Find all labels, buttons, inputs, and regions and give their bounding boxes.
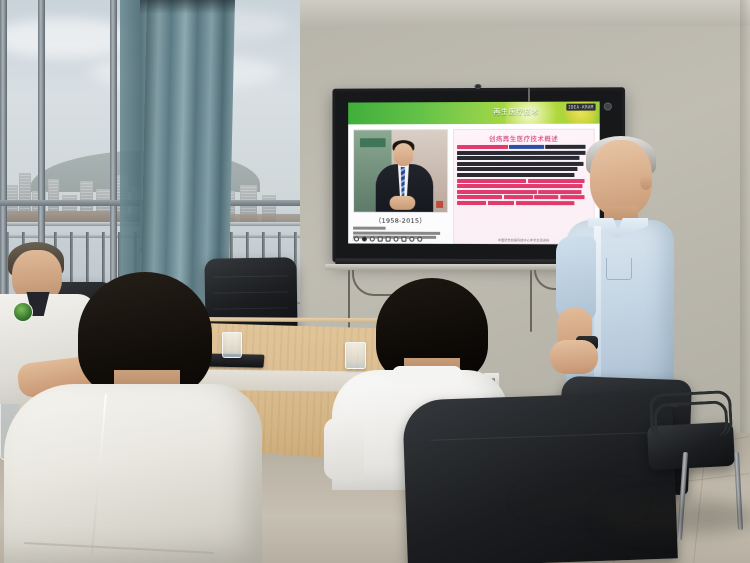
presenter-shadow <box>520 488 640 514</box>
visitor-chair-foreground[interactable] <box>402 391 678 563</box>
door-edge <box>740 0 750 470</box>
display-cable <box>530 270 532 332</box>
pen-icon[interactable] <box>370 237 375 242</box>
ceiling <box>280 0 750 26</box>
close-icon[interactable] <box>394 237 399 242</box>
display-cable <box>528 88 530 102</box>
slide-header-title: 再生医疗技术 <box>493 107 539 117</box>
pointer-icon[interactable] <box>354 237 359 242</box>
record-icon[interactable] <box>362 237 367 242</box>
shirt-pocket <box>606 258 632 280</box>
ear <box>640 174 652 190</box>
sleeve <box>324 418 364 480</box>
curtain-rod-shadow <box>140 0 235 14</box>
photo-stamp-icon <box>436 201 443 208</box>
slide-toolbar[interactable] <box>354 237 422 242</box>
chair-backrest-frame <box>653 400 729 440</box>
slide-photo-column: （1958-2015） <box>353 129 448 244</box>
display-brand-logo: IDEA-KRAM <box>566 104 596 111</box>
portrait-caption: （1958-2015） <box>353 215 448 225</box>
more-icon[interactable] <box>417 237 422 242</box>
hands <box>550 340 598 374</box>
camera-icon <box>474 84 481 89</box>
shirt <box>4 384 262 563</box>
attendee-front-left <box>14 272 264 563</box>
conference-room-photo: 再生医疗技术 （1958-2015） <box>0 0 750 563</box>
keyboard-icon[interactable] <box>401 237 406 242</box>
slide-header-band: 再生医疗技术 <box>348 101 600 124</box>
collar <box>392 366 462 384</box>
highlighter-icon[interactable] <box>378 237 383 242</box>
settings-icon[interactable] <box>409 237 414 242</box>
eraser-icon[interactable] <box>386 237 391 242</box>
display-sensor-icon <box>604 102 612 110</box>
portrait-photo <box>353 129 448 213</box>
